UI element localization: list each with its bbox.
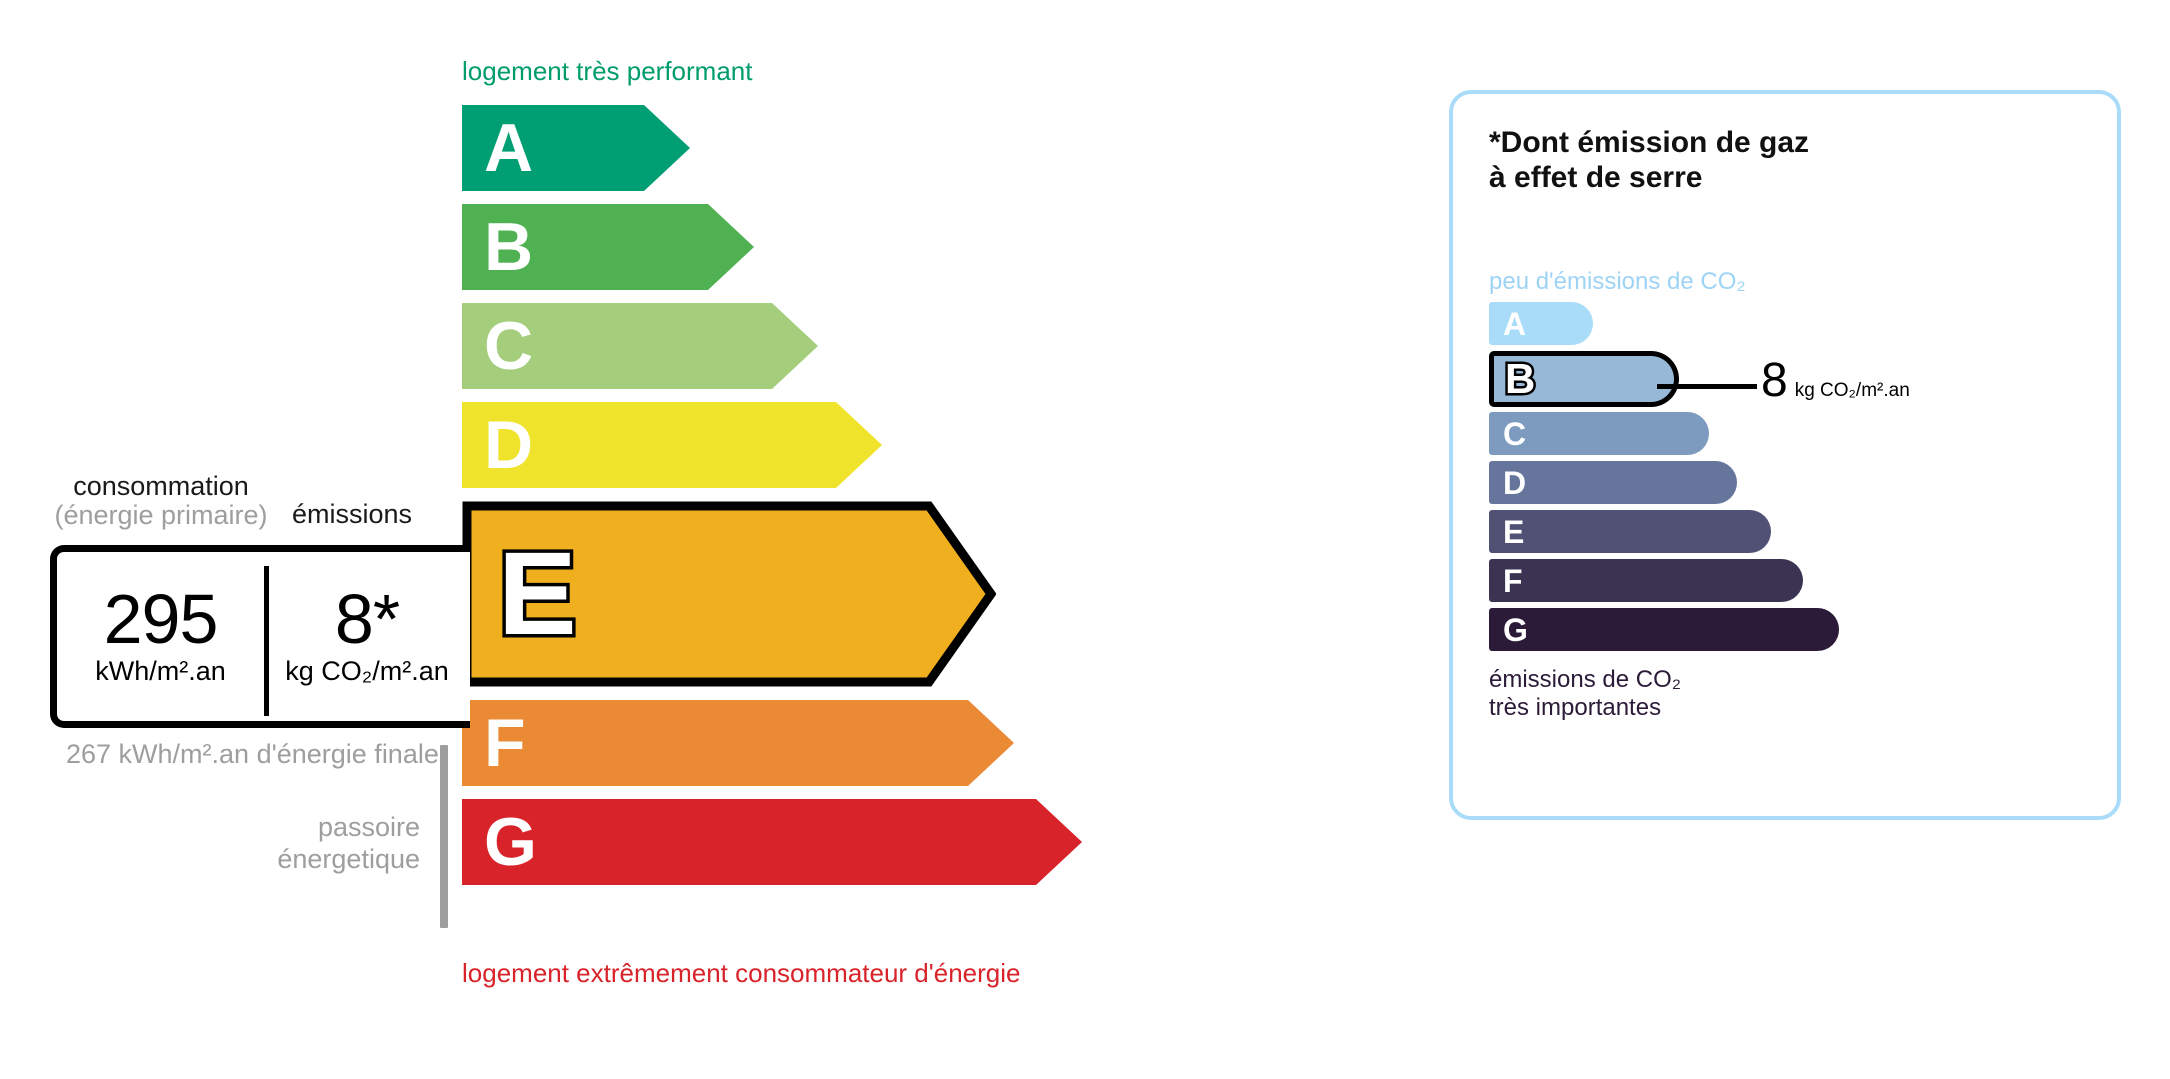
co2-class-letter-e: E: [1503, 516, 1524, 548]
co2-top-caption: peu d'émissions de CO₂: [1489, 270, 1746, 294]
energy-top-caption: logement très performant: [462, 58, 752, 84]
energy-arrow-c: [462, 303, 818, 389]
energy-arrow-g: [462, 799, 1082, 885]
energy-class-bars: ABCDEFG: [462, 105, 1362, 898]
energy-performance-scale: logement très performant ABCDEFG logemen…: [0, 0, 1400, 1079]
co2-value-unit: kg CO₂/m².an: [1795, 380, 1910, 402]
co2-emissions-panel: *Dont émission de gaz à effet de serre p…: [1449, 90, 2121, 820]
energy-arrow-a: [462, 105, 690, 191]
final-energy-note: 267 kWh/m².an d'énergie finale: [66, 739, 439, 771]
co2-class-row-f: F: [1489, 559, 1919, 602]
value-readout-box: 295 kWh/m².an 8* kg CO₂/m².an: [50, 545, 470, 728]
energy-class-row-e: E: [462, 501, 1362, 687]
co2-value-group: 8 kg CO₂/m².an: [1761, 357, 1910, 405]
energy-arrow-d: [462, 402, 882, 488]
energy-bottom-caption: logement extrêmement consommateur d'éner…: [462, 960, 1020, 986]
dpe-label: logement très performant ABCDEFG logemen…: [0, 0, 2170, 1079]
co2-bottom-caption: émissions de CO₂ très importantes: [1489, 666, 1681, 722]
co2-class-letter-f: F: [1503, 565, 1523, 597]
co2-class-row-c: C: [1489, 412, 1919, 455]
co2-class-row-g: G: [1489, 608, 1919, 651]
energy-class-row-a: A: [462, 105, 1362, 191]
energy-class-row-c: C: [462, 303, 1362, 389]
co2-class-row-d: D: [1489, 461, 1919, 504]
energy-arrow-f: [462, 700, 1014, 786]
energy-class-row-g: G: [462, 799, 1362, 885]
emissions-unit: kg CO₂/m².an: [285, 657, 449, 687]
energy-class-row-d: D: [462, 402, 1362, 488]
consumption-value: 295: [104, 586, 218, 653]
co2-class-bars: ABCDEFG: [1489, 302, 1919, 657]
consumption-header: consommation (énergie primaire): [50, 472, 272, 529]
co2-class-row-e: E: [1489, 510, 1919, 553]
consumption-header-line1: consommation: [50, 472, 272, 501]
co2-bar-g: [1489, 608, 1839, 651]
co2-class-letter-b: B: [1505, 358, 1535, 400]
energy-arrow-b: [462, 204, 754, 290]
energy-class-row-b: B: [462, 204, 1362, 290]
co2-class-row-a: A: [1489, 302, 1919, 345]
passoire-indicator-bar: [440, 745, 448, 928]
emissions-readout: 8* kg CO₂/m².an: [269, 552, 465, 721]
co2-class-letter-a: A: [1503, 308, 1526, 340]
consumption-readout: 295 kWh/m².an: [57, 552, 264, 721]
co2-leader-line: [1657, 384, 1757, 389]
emissions-value: 8*: [335, 586, 399, 653]
consumption-unit: kWh/m².an: [95, 657, 226, 687]
co2-bar-d: [1489, 461, 1737, 504]
co2-bar-e: [1489, 510, 1771, 553]
consumption-header-line2: (énergie primaire): [50, 501, 272, 530]
co2-class-letter-c: C: [1503, 418, 1526, 450]
co2-panel-title: *Dont émission de gaz à effet de serre: [1489, 126, 1809, 196]
co2-class-letter-g: G: [1503, 614, 1528, 646]
energy-arrow-e: [462, 501, 996, 687]
co2-class-letter-d: D: [1503, 467, 1526, 499]
energy-class-row-f: F: [462, 700, 1362, 786]
co2-value: 8: [1761, 357, 1788, 405]
passoire-label: passoire énergetique: [180, 812, 420, 876]
emissions-header: émissions: [292, 500, 412, 529]
co2-bar-f: [1489, 559, 1803, 602]
